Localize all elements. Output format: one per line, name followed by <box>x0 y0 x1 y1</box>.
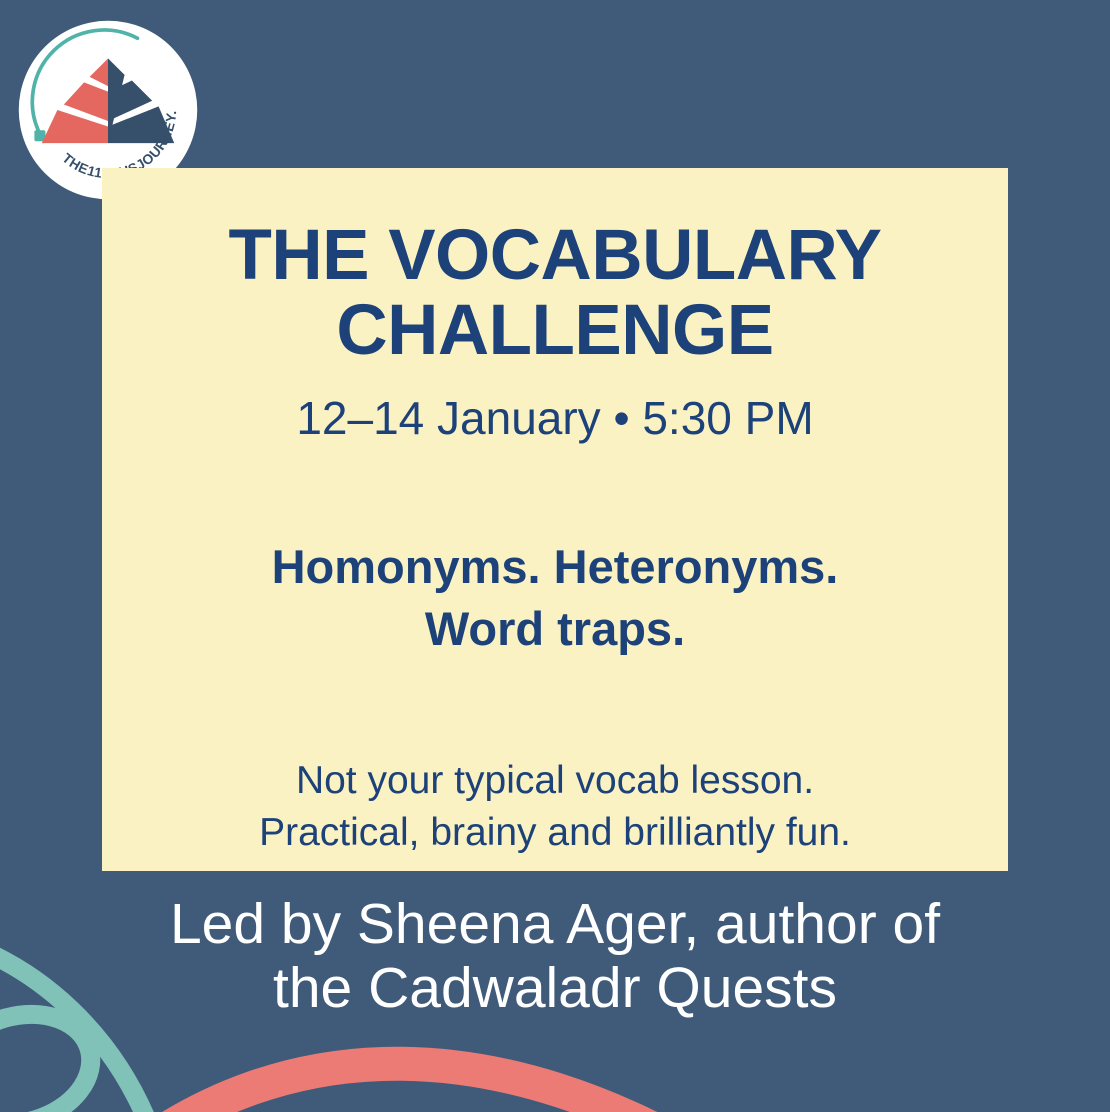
event-blurb: Not your typical vocab lesson. Practical… <box>136 755 974 860</box>
salmon-arc-icon <box>150 1030 850 1112</box>
poster-canvas: THE11PLUSJOURNEY.CO.UK THE VOCABULARY CH… <box>0 0 1110 1112</box>
event-datetime: 12–14 January • 5:30 PM <box>136 391 974 446</box>
presenter-credit: Led by Sheena Ager, author of the Cadwal… <box>0 893 1110 1021</box>
page-title-line-2: CHALLENGE <box>336 291 773 370</box>
presenter-credit-line-2: the Cadwaladr Quests <box>273 956 837 1020</box>
event-blurb-line-1: Not your typical vocab lesson. <box>296 759 814 802</box>
page-title-line-1: THE VOCABULARY <box>228 216 881 295</box>
page-title: THE VOCABULARY CHALLENGE <box>136 218 974 369</box>
event-card: THE VOCABULARY CHALLENGE 12–14 January •… <box>102 168 1008 871</box>
event-topics: Homonyms. Heteronyms. Word traps. <box>136 536 974 660</box>
event-topics-line-2: Word traps. <box>425 602 685 655</box>
presenter-credit-line-1: Led by Sheena Ager, author of <box>170 892 940 956</box>
event-blurb-line-2: Practical, brainy and brilliantly fun. <box>259 811 851 854</box>
event-topics-line-1: Homonyms. Heteronyms. <box>272 540 839 593</box>
